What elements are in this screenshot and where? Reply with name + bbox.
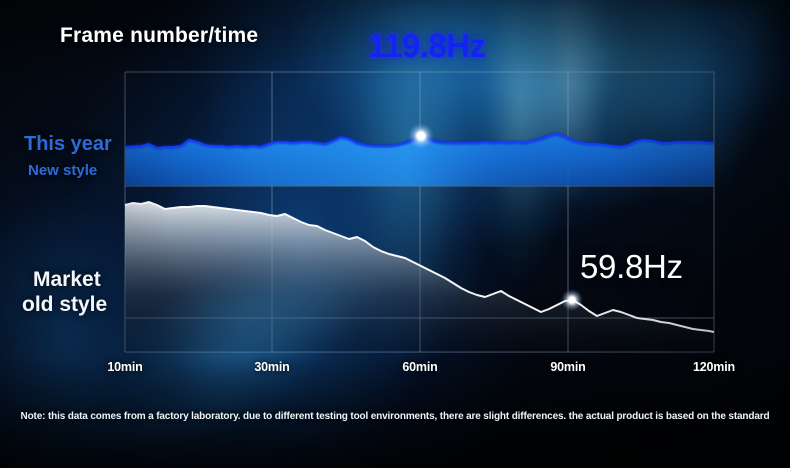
annotation-new-value: 119.8Hz (368, 27, 486, 65)
legend-new-style-subtitle: New style (28, 162, 97, 179)
x-axis-tick-labels: 10min30min60min90min120min (0, 360, 790, 382)
x-tick-30min: 30min (254, 360, 289, 374)
annotation-old-value: 59.8Hz (580, 248, 683, 286)
x-tick-120min: 120min (693, 360, 735, 374)
x-tick-60min: 60min (402, 360, 437, 374)
page-title: Frame number/time (60, 24, 258, 48)
legend-old-style-title: Market (33, 268, 101, 292)
x-tick-90min: 90min (550, 360, 585, 374)
infographic-chart-panel: Frame number/time 119.8Hz 59.8Hz This ye… (0, 0, 790, 468)
marker-old-style (561, 289, 583, 311)
chart-canvas (0, 0, 790, 468)
x-tick-10min: 10min (107, 360, 142, 374)
marker-new-style (408, 123, 434, 149)
footnote-text: Note: this data comes from a factory lab… (0, 411, 790, 422)
legend-new-style-title: This year (24, 133, 112, 156)
legend-old-style-subtitle: old style (22, 293, 107, 317)
